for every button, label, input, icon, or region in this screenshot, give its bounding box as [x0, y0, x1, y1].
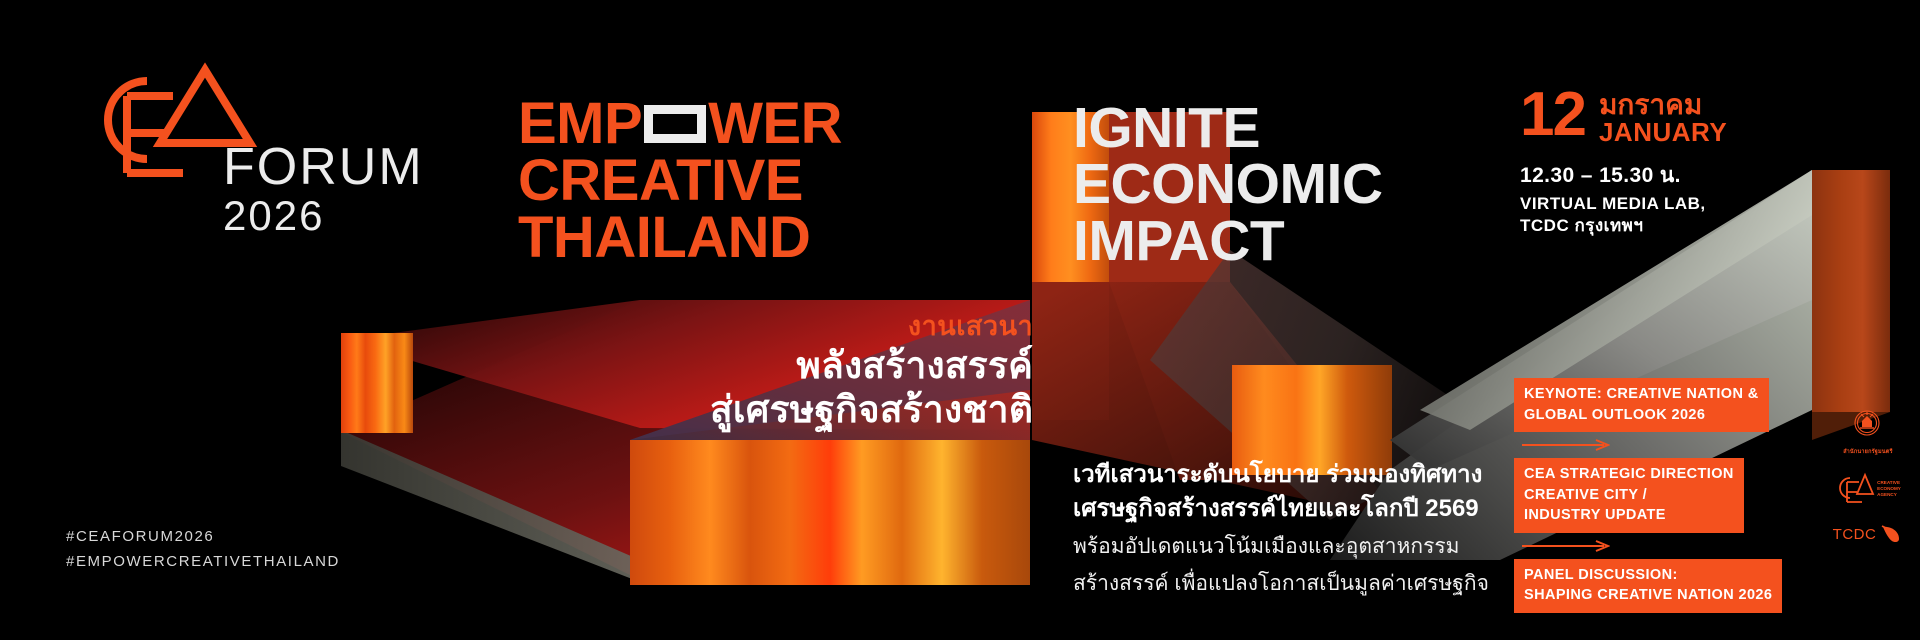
empower-o-rectangle-icon — [644, 105, 706, 143]
cea-logo-icon — [1835, 472, 1875, 506]
partner-caption: CREATIVE ECONOMY AGENCY — [1877, 480, 1901, 497]
headline-ignite-economic-impact: IGNITE ECONOMIC IMPACT — [1073, 100, 1383, 269]
date-row: 12 มกราคม JANUARY — [1520, 88, 1727, 147]
headline-right-line-2: ECONOMIC — [1073, 156, 1383, 212]
thai-sub-line-1: พร้อมอัปเดตแนวโน้มเมืองและอุตสาหกรรม — [1073, 532, 1489, 562]
partner-tcdc[interactable]: TCDC — [1828, 522, 1908, 546]
agenda-item-1[interactable]: CEA STRATEGIC DIRECTION CREATIVE CITY / … — [1514, 458, 1814, 559]
headline-right-line-1: IGNITE — [1073, 100, 1383, 156]
hashtag-forum: #CEAFORUM2026 — [66, 525, 340, 550]
venue-line-1: VIRTUAL MEDIA LAB, — [1520, 193, 1727, 215]
thai-lead-line-1: เวทีเสวนาระดับนโยบาย ร่วมมองทิศทาง — [1073, 458, 1489, 492]
thai-lead-line-2: เศรษฐกิจสร้างสรรค์ไทยและโลกปี 2569 — [1073, 492, 1489, 526]
date-day: 12 — [1520, 88, 1585, 141]
partner-caption: สำนักนายกรัฐมนตรี — [1828, 448, 1908, 456]
venue-line-2: TCDC กรุงเทพฯ — [1520, 215, 1727, 237]
agenda-item-2[interactable]: PANEL DISCUSSION: SHAPING CREATIVE NATIO… — [1514, 559, 1814, 613]
date-month: มกราคม JANUARY — [1599, 88, 1727, 147]
thai-description: เวทีเสวนาระดับนโยบาย ร่วมมองทิศทาง เศรษฐ… — [1073, 458, 1489, 599]
thai-kicker: งานเสวนา — [710, 310, 1033, 344]
partner-thai-government[interactable]: สำนักนายกรัฐมนตรี — [1828, 408, 1908, 456]
agenda-item-label: KEYNOTE: CREATIVE NATION & GLOBAL OUTLOO… — [1514, 378, 1769, 432]
agenda-item-label: PANEL DISCUSSION: SHAPING CREATIVE NATIO… — [1514, 559, 1782, 613]
headline-line-2: CREATIVE — [518, 153, 842, 210]
headline-empower-suffix: WER — [708, 96, 842, 153]
headline-right-line-3: IMPACT — [1073, 213, 1383, 269]
agenda-item-label: CEA STRATEGIC DIRECTION CREATIVE CITY / … — [1514, 458, 1744, 533]
tcdc-logo-icon — [1879, 522, 1903, 546]
hashtag-empower: #EMPOWERCREATIVETHAILAND — [66, 550, 340, 575]
hashtag-group: #CEAFORUM2026 #EMPOWERCREATIVETHAILAND — [66, 525, 340, 575]
headline-empower-creative-thailand: EMP WER CREATIVE THAILAND — [518, 96, 842, 266]
thai-title-line-1: พลังสร้างสรรค์ — [710, 344, 1033, 388]
agenda-arrow-icon — [1514, 432, 1814, 458]
headline-empower-prefix: EMP — [518, 96, 642, 153]
logo-forum-label: FORUM — [223, 141, 424, 193]
headline-line-3: THAILAND — [518, 210, 842, 267]
partner-caption: TCDC — [1833, 526, 1877, 543]
date-month-english: JANUARY — [1599, 119, 1727, 146]
agenda-item-0[interactable]: KEYNOTE: CREATIVE NATION & GLOBAL OUTLOO… — [1514, 378, 1814, 458]
cea-forum-logo[interactable]: FORUM 2026 — [55, 55, 395, 220]
event-banner: FORUM 2026 #CEAFORUM2026 #EMPOWERCREATIV… — [0, 0, 1920, 640]
thai-title-line-2: สู่เศรษฐกิจสร้างชาติ — [710, 388, 1033, 432]
agenda-arrow-icon — [1514, 533, 1814, 559]
thai-event-title: งานเสวนา พลังสร้างสรรค์ สู่เศรษฐกิจสร้าง… — [710, 310, 1033, 433]
thai-sub-line-2: สร้างสรรค์ เพื่อแปลงโอกาสเป็นมูลค่าเศรษฐ… — [1073, 569, 1489, 599]
event-time: 12.30 – 15.30 น. — [1520, 163, 1727, 189]
date-month-thai: มกราคม — [1599, 90, 1727, 119]
agenda-list: KEYNOTE: CREATIVE NATION & GLOBAL OUTLOO… — [1514, 378, 1814, 613]
event-venue: VIRTUAL MEDIA LAB, TCDC กรุงเทพฯ — [1520, 193, 1727, 237]
headline-line-1: EMP WER — [518, 96, 842, 153]
partner-logos: สำนักนายกรัฐมนตรี CREATIVE ECONOMY AGENC… — [1828, 408, 1908, 556]
logo-year-label: 2026 — [223, 195, 324, 237]
thai-government-seal-icon — [1828, 408, 1906, 442]
date-venue-block: 12 มกราคม JANUARY 12.30 – 15.30 น. VIRTU… — [1520, 88, 1727, 237]
partner-cea[interactable]: CREATIVE ECONOMY AGENCY — [1828, 472, 1908, 506]
